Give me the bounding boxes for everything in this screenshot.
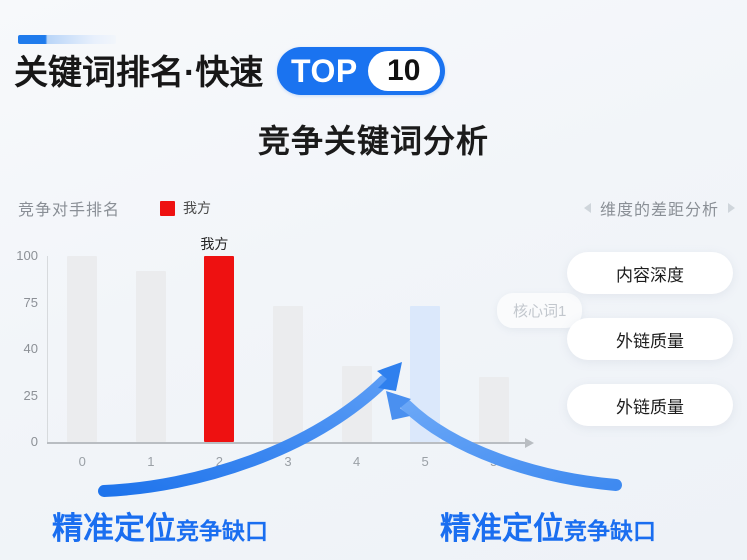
x-tick-label: 5 (482, 454, 506, 469)
bar-1[interactable] (136, 271, 166, 442)
y-tick-label: 100 (4, 248, 38, 263)
page-title-text: 关键词排名·快速 (14, 50, 263, 96)
dimension-card[interactable]: 内容深度 (567, 252, 733, 294)
caption-right-weak: 竞争缺口 (564, 512, 656, 546)
bar-2[interactable] (204, 256, 234, 442)
x-tick-label: 5 (413, 454, 437, 469)
caption-left: 精准定位 竞争缺口 (52, 503, 268, 548)
dimension-card-list: 内容深度外链质量外链质量 (567, 252, 733, 450)
chevron-right-icon[interactable] (728, 203, 735, 213)
y-tick-label: 75 (4, 295, 38, 310)
bar-3[interactable] (273, 306, 303, 442)
bar-chart: 1007540250 我方 0123455 (0, 236, 560, 486)
top-badge-label: TOP (291, 55, 368, 87)
chart-title: 竞争对手排名 (18, 196, 120, 220)
x-tick-label: 2 (207, 454, 231, 469)
dimension-card-label: 内容深度 (616, 261, 684, 286)
legend-swatch-icon (160, 201, 175, 216)
page-title: 关键词排名·快速 (14, 48, 263, 98)
x-tick-label: 3 (276, 454, 300, 469)
chart-legend: 我方 (160, 198, 211, 218)
caption-left-weak: 竞争缺口 (176, 512, 268, 546)
chart-header: 竞争对手排名 我方 (18, 196, 211, 220)
caption-left-strong: 精准定位 (52, 503, 176, 548)
x-tick-label: 4 (345, 454, 369, 469)
x-tick-label: 0 (70, 454, 94, 469)
caption-right: 精准定位 竞争缺口 (440, 503, 656, 548)
dimension-card-label: 外链质量 (616, 327, 684, 352)
page-subtitle: 竞争关键词分析 (0, 116, 747, 162)
dimension-card[interactable]: 外链质量 (567, 318, 733, 360)
dimension-card[interactable]: 外链质量 (567, 384, 733, 426)
y-tick-label: 0 (4, 434, 38, 449)
dimension-title: 维度的差距分析 (600, 196, 719, 220)
bar-6[interactable] (479, 377, 509, 442)
x-axis-line (47, 442, 527, 444)
top-badge-count: 10 (368, 51, 440, 91)
legend-label: 我方 (183, 198, 211, 218)
top-badge: TOP 10 (277, 47, 445, 95)
bar-4[interactable] (342, 366, 372, 442)
y-tick-label: 40 (4, 341, 38, 356)
y-tick-label: 25 (4, 388, 38, 403)
chevron-left-icon[interactable] (584, 203, 591, 213)
bar-series: 我方 (48, 256, 528, 442)
accent-bar (18, 35, 116, 44)
x-tick-label: 1 (139, 454, 163, 469)
bar-0[interactable] (67, 256, 97, 442)
bar-5[interactable] (410, 306, 440, 442)
dimension-header: 维度的差距分析 (584, 196, 735, 220)
highlight-bar-label: 我方 (200, 234, 228, 254)
caption-right-strong: 精准定位 (440, 503, 564, 548)
dimension-card-label: 外链质量 (616, 393, 684, 418)
